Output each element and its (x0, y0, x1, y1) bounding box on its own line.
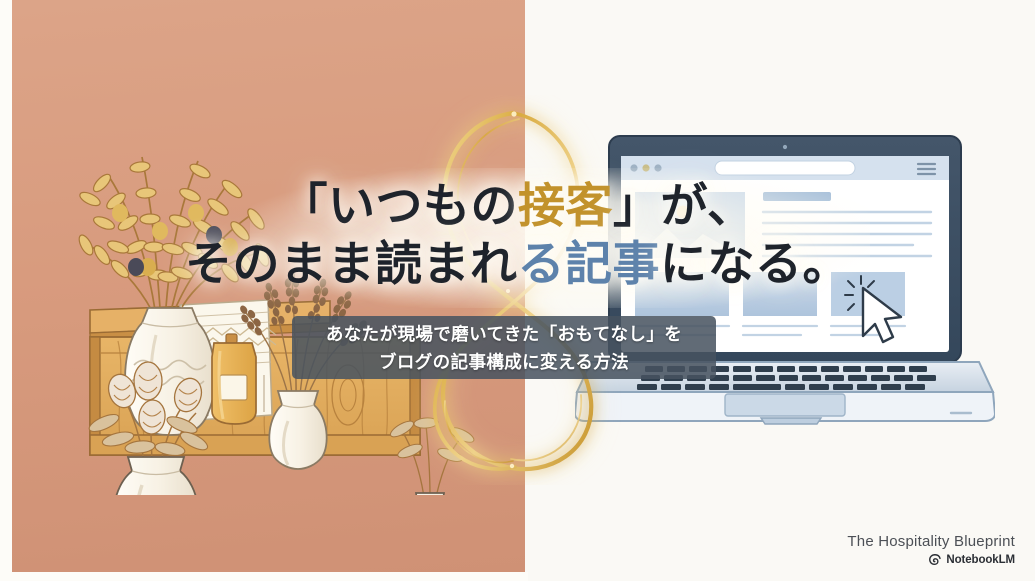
image-placeholder (635, 272, 729, 316)
laptop-illustration (575, 130, 995, 430)
image-placeholder (743, 272, 817, 316)
honey-jar (212, 334, 256, 424)
still-life-illustration (30, 95, 510, 495)
small-gourd-vase (388, 417, 476, 495)
panel-bottom-border (0, 572, 528, 581)
olive-branch-bouquet (76, 157, 271, 311)
banner-canvas: 「いつもの接客」が、 そのまま読まれる記事になる。 あなたが現場で磨いてきた「お… (0, 0, 1035, 581)
panel-left-border (0, 0, 12, 581)
notebooklm-spiral-icon (928, 553, 942, 567)
trackpad (725, 394, 845, 416)
subtitle-plaque: あなたが現場で磨いてきた「おもてなし」を ブログの記事構成に変える方法 (292, 316, 716, 379)
branding: The Hospitality Blueprint NotebookLM (847, 532, 1015, 567)
image-placeholder (635, 192, 745, 258)
notebooklm-badge: NotebookLM (847, 553, 1015, 567)
heading-bar (763, 192, 831, 201)
subtitle-line-1: あなたが現場で磨いてきた「おもてなし」を (326, 321, 682, 347)
notebooklm-badge-text: NotebookLM (946, 554, 1015, 566)
subtitle-line-2: ブログの記事構成に変える方法 (379, 349, 629, 375)
brand-title: The Hospitality Blueprint (847, 532, 1015, 551)
